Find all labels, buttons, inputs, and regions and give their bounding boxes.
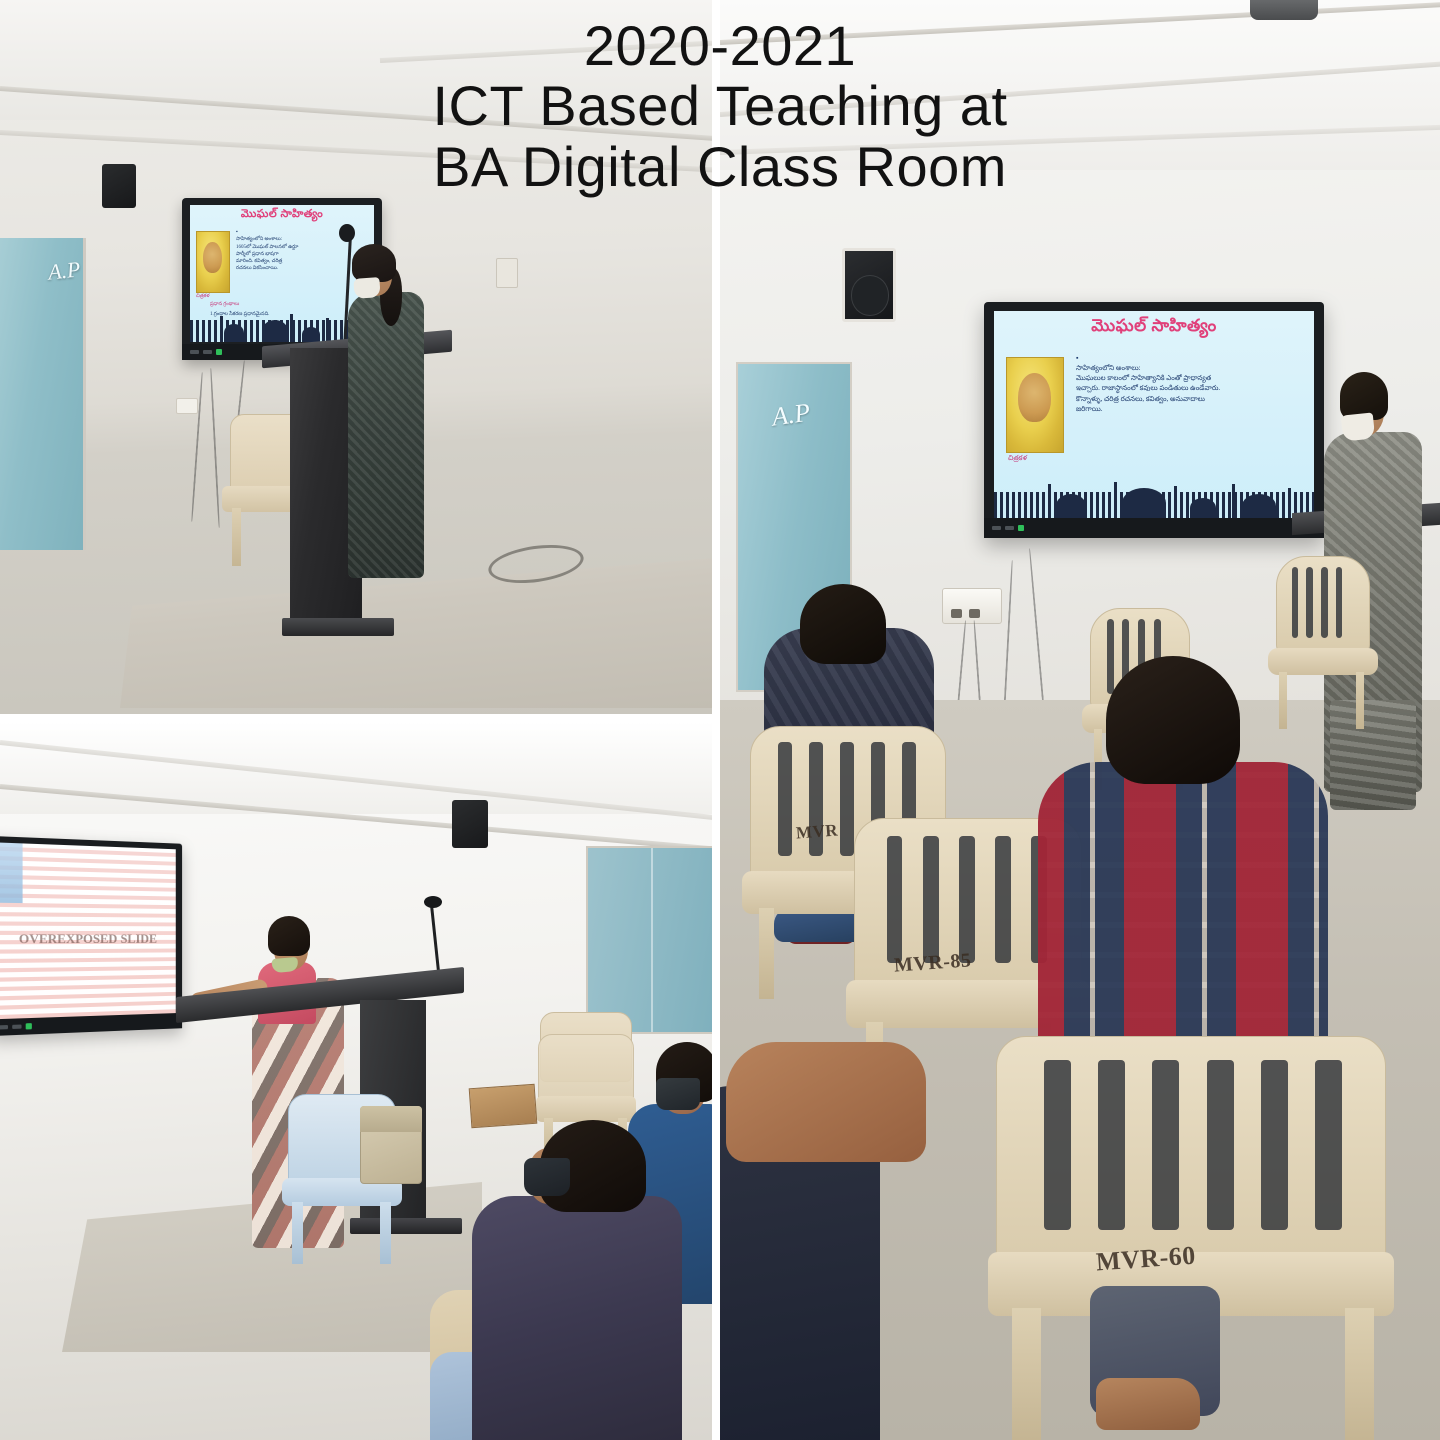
power-led-icon [1018, 525, 1024, 531]
photo-panel-top-left: A.P మొఘల్ సాహిత్యం ▪ సాహిత్యంలోని అంశాలు… [0, 0, 712, 714]
bezel-button[interactable] [0, 1025, 8, 1030]
ceiling [0, 0, 712, 120]
student-hair [1106, 656, 1240, 784]
panel-bezel-controls[interactable] [984, 518, 1324, 538]
slide-body-line: 1605లో మొఘల్ పాలనలో ఉర్దూ [236, 244, 362, 251]
slide-portrait-caption: చిత్రకళ [1008, 453, 1027, 463]
bezel-button[interactable] [190, 350, 199, 354]
chair-leg [1356, 672, 1364, 730]
interactive-flat-panel[interactable]: OVEREXPOSED SLIDE [0, 836, 182, 1036]
door-label: A.P [47, 256, 82, 285]
slide-body-line: మారింది. కవిత్వం, చరిత్ర [236, 258, 362, 265]
electrical-switchboard[interactable] [942, 588, 1002, 624]
plastic-chair[interactable] [1268, 556, 1378, 726]
chair-leg [380, 1202, 391, 1264]
slide-footer-heading: ప్రధాన గ్రంథాలు [210, 301, 360, 308]
slide-portrait-image [196, 231, 230, 293]
slide-bullet-marker: ▪ [1076, 353, 1078, 363]
presentation-slide: మొఘల్ సాహిత్యం ▪ సాహిత్యంలోని అంశాలు: మొ… [994, 311, 1314, 518]
power-led-icon [26, 1023, 32, 1029]
ceiling-fan-mount [1250, 0, 1318, 20]
microphone-icon [424, 896, 442, 908]
slide-corner-block [0, 842, 22, 902]
interactive-flat-panel[interactable]: మొఘల్ సాహిత్యం ▪ సాహిత్యంలోని అంశాలు: మొ… [984, 302, 1324, 538]
plug-icon [969, 609, 980, 618]
slide-skyline-shapes [994, 484, 1314, 518]
slide-portrait-image [1006, 357, 1064, 453]
chair-leg [232, 508, 241, 566]
student-body [472, 1196, 682, 1440]
chair-leg [1345, 1308, 1373, 1440]
slide-body-line: పార్శీలో ప్రధాన భాషగా [236, 251, 362, 258]
slide-portrait-caption: చిత్రకళ [196, 293, 210, 300]
blue-door[interactable] [0, 238, 86, 550]
bezel-button[interactable] [992, 526, 1001, 530]
slide-body-line: రచనలు వికసించాయి. [236, 265, 362, 272]
wall-speaker-icon [842, 248, 896, 322]
photo-panel-bottom-left: OVEREXPOSED SLIDE [0, 722, 712, 1440]
plug-icon [951, 609, 962, 618]
chair-leg [1012, 1308, 1040, 1440]
presentation-slide: OVEREXPOSED SLIDE [0, 842, 176, 1019]
slide-body-line: ఇచ్చారు. రాజాస్థానంలో కవులు పండితులు ఉండ… [1076, 383, 1298, 393]
slide-body: ▪ సాహిత్యంలోని అంశాలు: మొఘలుల కాలంలో సాహ… [1076, 353, 1298, 414]
slide-body-line: సాహిత్యంలోని అంశాలు: [1076, 363, 1298, 373]
collage-canvas: A.P మొఘల్ సాహిత్యం ▪ సాహిత్యంలోని అంశాలు… [0, 0, 1440, 1440]
chair-back [538, 1034, 634, 1104]
teacher-saree [348, 292, 424, 578]
face-mask-icon [524, 1158, 570, 1196]
slide-title: మొఘల్ సాహిత్యం [190, 208, 374, 223]
chair-mark-label: MVR [795, 821, 838, 844]
chair-back [1276, 556, 1370, 655]
slide-title: మొఘల్ సాహిత్యం [994, 316, 1314, 340]
slide-overlay-text: OVEREXPOSED SLIDE [5, 931, 169, 948]
power-led-icon [216, 349, 222, 355]
face-mask-icon [656, 1078, 700, 1110]
wall-speaker-icon [102, 164, 136, 208]
photo-panel-right: A.P మొఘల్ సాహిత్యం ▪ సాహిత్యంలోని అంశాలు… [720, 0, 1440, 1440]
electrical-socket[interactable] [176, 398, 198, 414]
slide-body-line: జరిగాయి. [1076, 404, 1298, 414]
wall-mounted-box [496, 258, 518, 288]
blue-cupboard[interactable] [586, 846, 712, 1034]
chair-back [996, 1036, 1386, 1268]
bezel-button[interactable] [203, 350, 212, 354]
cardboard-box [469, 1084, 538, 1129]
slide-body-line: మొఘలుల కాలంలో సాహిత్యానికి ఎంతో ప్రాధాన్… [1076, 373, 1298, 383]
teacher-hair [352, 244, 396, 282]
bezel-button[interactable] [12, 1025, 21, 1029]
microphone-icon [339, 224, 355, 242]
chair-leg [292, 1202, 303, 1264]
teacher-hair [268, 916, 310, 956]
door-label: A.P [770, 397, 812, 432]
slide-body-line: కొన్నాళ్ళు, చరిత్ర రచనలు, కవిత్వం, అనువా… [1076, 394, 1298, 404]
student-hair [800, 584, 886, 664]
podium-base [282, 618, 394, 636]
handbag-flap [360, 1106, 422, 1132]
chair-leg [1279, 672, 1287, 730]
ceiling [0, 722, 712, 814]
student-arm [726, 1042, 926, 1162]
bezel-button[interactable] [1005, 526, 1014, 530]
chair-leg [759, 908, 774, 999]
wall-speaker-icon [452, 800, 488, 848]
student-foot [1096, 1378, 1200, 1430]
